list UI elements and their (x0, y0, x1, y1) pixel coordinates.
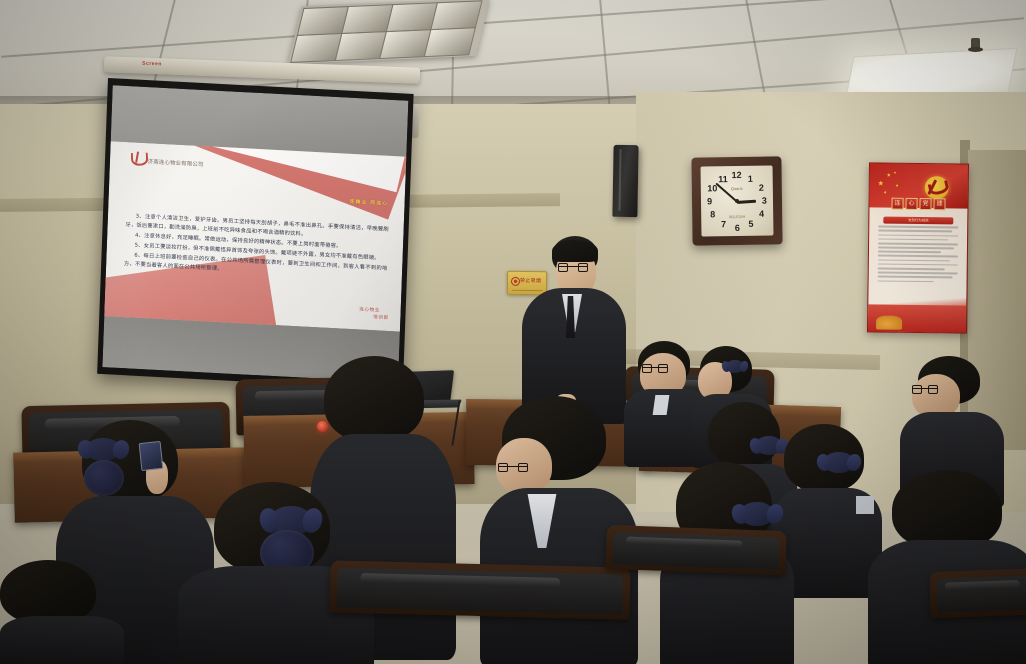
hair-bow (740, 502, 774, 526)
clock-numeral: 8 (710, 210, 715, 220)
clock-center-pin (735, 199, 739, 203)
poster-title-char: 党 (919, 198, 931, 210)
clock-brand: Quartz (731, 186, 743, 191)
clock-numeral: 7 (721, 219, 726, 229)
clock-numeral: 11 (718, 174, 728, 184)
hair-bow (86, 438, 120, 461)
clock-numeral: 5 (748, 219, 753, 229)
attendee (868, 470, 1026, 664)
slide-signature: 连心物业 培训部 (359, 307, 380, 322)
poster-title: 连 心 党 建 (891, 197, 945, 210)
slide-signature-line: 连心物业 (359, 307, 380, 315)
auditorium-bench[interactable] (605, 525, 786, 575)
hair-bow (824, 452, 854, 473)
meeting-room-photo: Screen 济南连心物业有限公司 连精业 同连心 3、注意个人清洁卫生，爱护牙… (0, 0, 1026, 664)
sprinkler-icon (971, 38, 980, 51)
poster-body-text (877, 226, 958, 286)
hair-net (84, 460, 124, 496)
clock-numeral: 2 (759, 183, 764, 193)
star-icon: ★ (887, 174, 892, 179)
attendee-glasses-icon (642, 367, 668, 368)
projector-screen: 济南连心物业有限公司 连精业 同连心 3、注意个人清洁卫生，爱护牙齿。男员工坚持… (97, 78, 413, 390)
wall-speaker-icon (612, 145, 638, 217)
poster-ribbon-label: 党员行为规范 (908, 218, 928, 223)
star-icon: ★ (878, 180, 884, 187)
hammer-sickle-icon (924, 176, 948, 199)
clock-numeral: 4 (759, 209, 764, 219)
grille-light-icon (288, 0, 490, 64)
auditorium-bench[interactable] (329, 560, 630, 619)
slide-logo: 济南连心物业有限公司 (131, 151, 204, 169)
clock-sub-label: 精品石英钟 (729, 213, 745, 218)
slide-company-name: 济南连心物业有限公司 (148, 160, 204, 169)
slide-signature-line: 培训部 (359, 314, 389, 322)
wall-clock: 12 1 2 3 4 5 6 7 8 9 10 11 Quartz 精品石英钟 (691, 156, 782, 245)
clock-numeral: 12 (732, 170, 742, 180)
company-logo-icon (131, 151, 146, 166)
star-icon: ★ (893, 172, 896, 176)
presenter-glasses-icon (558, 266, 588, 267)
mobile-phone-icon[interactable] (139, 441, 164, 471)
presentation-slide: 济南连心物业有限公司 连精业 同连心 3、注意个人清洁卫生，爱护牙齿。男员工坚持… (104, 142, 406, 332)
poster-title-char: 心 (905, 197, 917, 209)
presenter (516, 236, 626, 421)
attendee-glasses-icon (912, 388, 938, 389)
hair-bow (726, 360, 744, 373)
attendee (0, 560, 120, 664)
clock-numeral: 3 (762, 196, 767, 206)
auditorium-bench[interactable] (929, 568, 1026, 618)
screen-housing-label: Screen (142, 61, 162, 68)
clock-numeral: 1 (748, 173, 753, 183)
poster-ribbon: 党员行为规范 (883, 216, 954, 224)
clock-numeral: 9 (707, 196, 712, 206)
clock-hour-hand (737, 200, 756, 204)
attendee-glasses-icon (498, 466, 528, 467)
star-icon: ★ (895, 184, 899, 188)
clock-numeral: 6 (735, 223, 740, 233)
clock-face: 12 1 2 3 4 5 6 7 8 9 10 11 Quartz 精品石英钟 (701, 166, 774, 237)
star-icon: ★ (883, 190, 887, 194)
party-building-poster: ★ ★ ★ ★ ★ 连 心 党 建 党员行为规范 (867, 162, 969, 333)
poster-title-char: 连 (891, 197, 903, 209)
poster-title-char: 建 (933, 198, 945, 210)
